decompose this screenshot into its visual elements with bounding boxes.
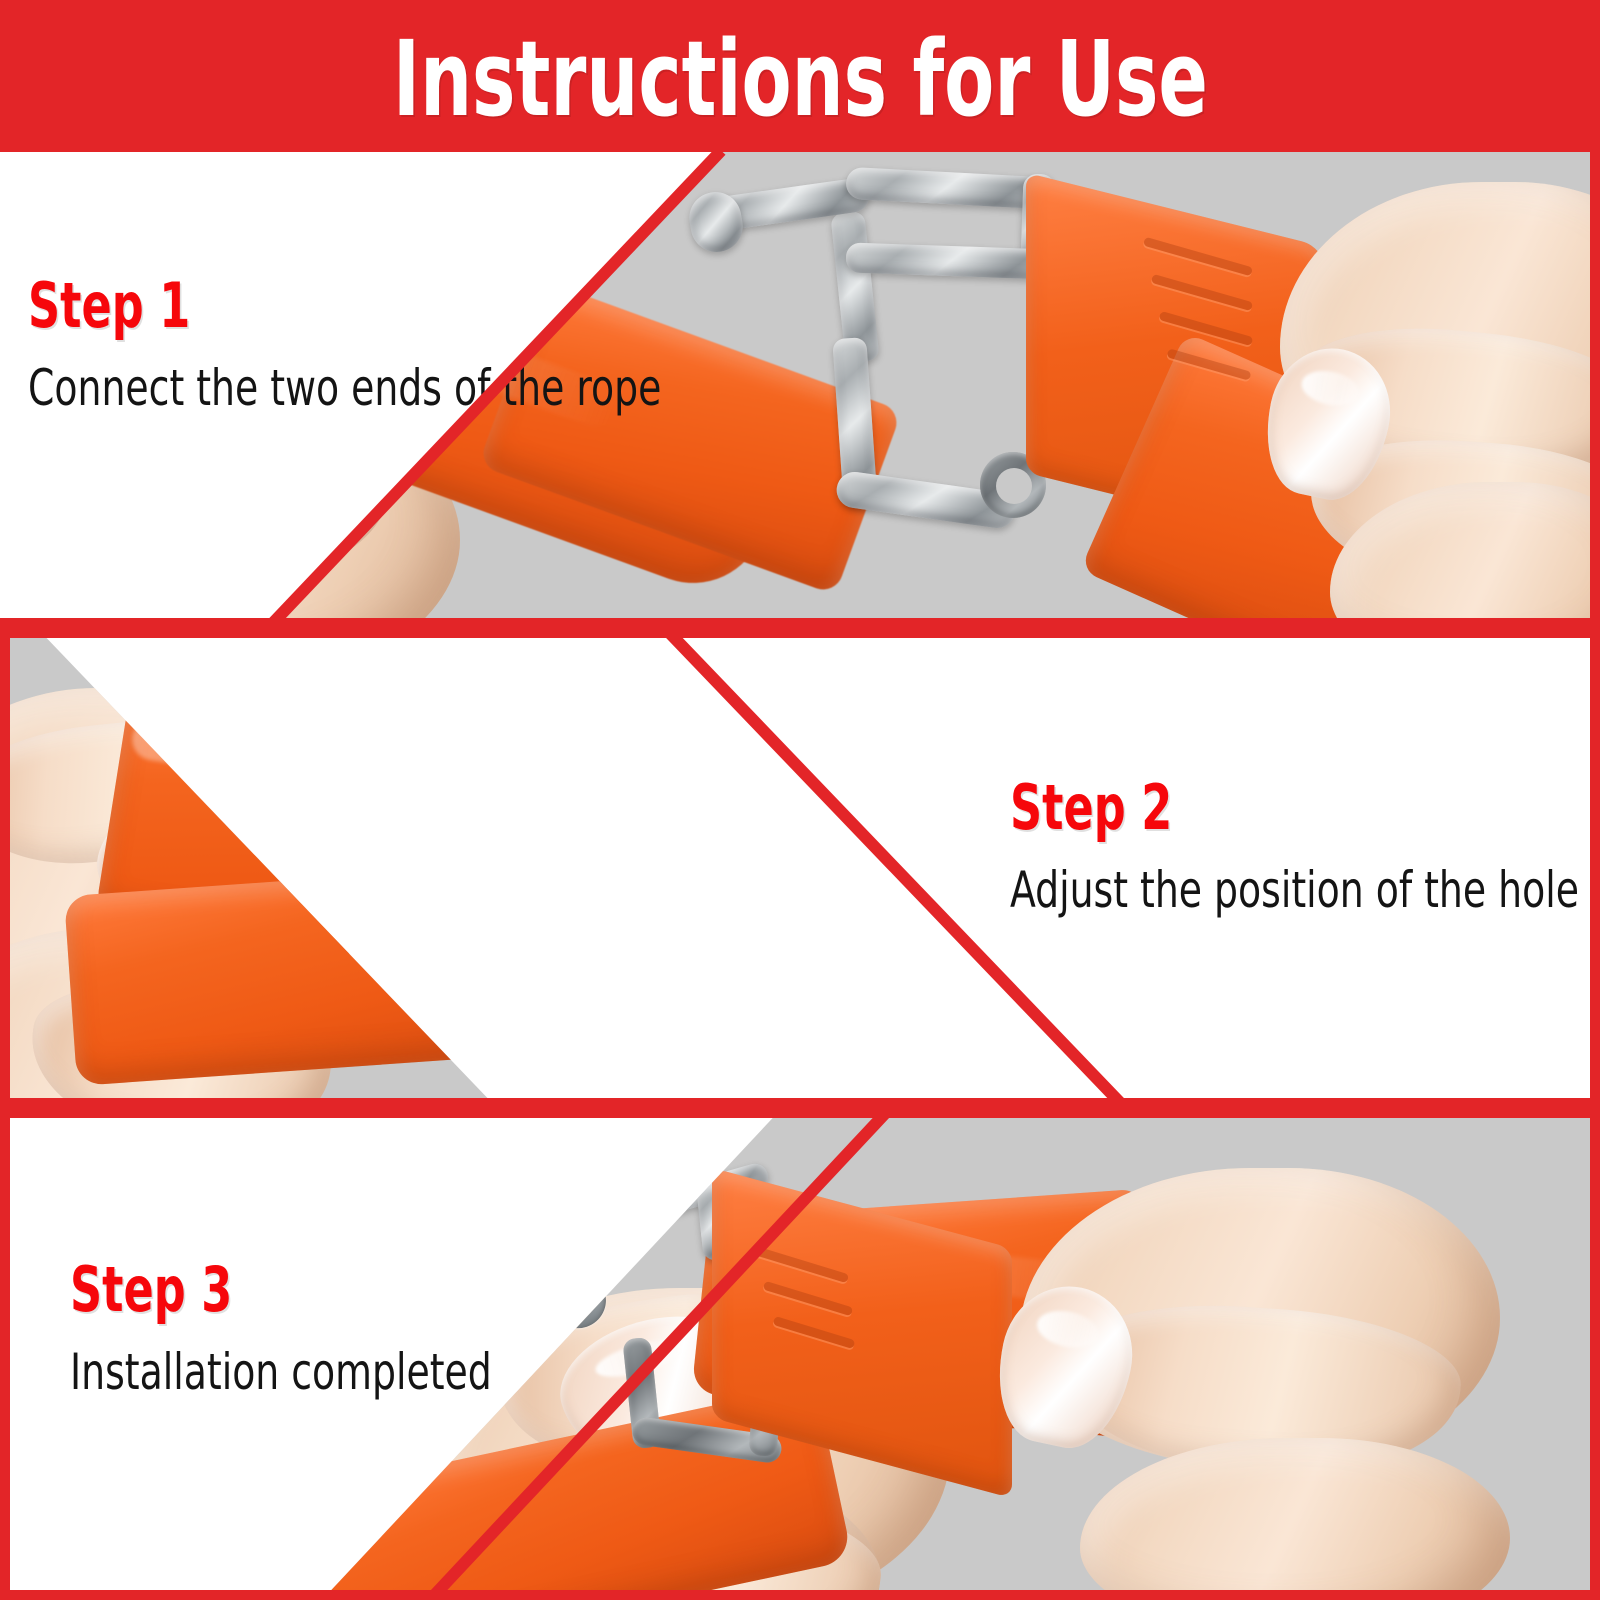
step-3-label: Step 3 xyxy=(70,1258,472,1321)
page-title: Instructions for Use xyxy=(392,27,1207,131)
step-1-panel: Step 1 Connect the two ends of the rope xyxy=(0,152,1600,628)
step-1-label: Step 1 xyxy=(28,274,631,337)
step-2-panel: Step 2 Adjust the position of the hole xyxy=(0,628,1600,1108)
step-3-description: Installation completed xyxy=(70,1345,492,1400)
instruction-poster: Instructions for Use xyxy=(0,0,1600,1600)
step-3-text: Step 3 Installation completed xyxy=(70,1258,572,1400)
step-1-text: Step 1 Connect the two ends of the rope xyxy=(28,274,782,416)
step-3-panel: Step 3 Installation completed xyxy=(0,1108,1600,1600)
poster-header: Instructions for Use xyxy=(0,0,1600,152)
step-2-description: Adjust the position of the hole xyxy=(1010,863,1579,918)
step-1-description: Connect the two ends of the rope xyxy=(28,361,661,416)
step-2-label: Step 2 xyxy=(1010,776,1552,839)
step-2-text: Step 2 Adjust the position of the hole xyxy=(1010,776,1600,918)
